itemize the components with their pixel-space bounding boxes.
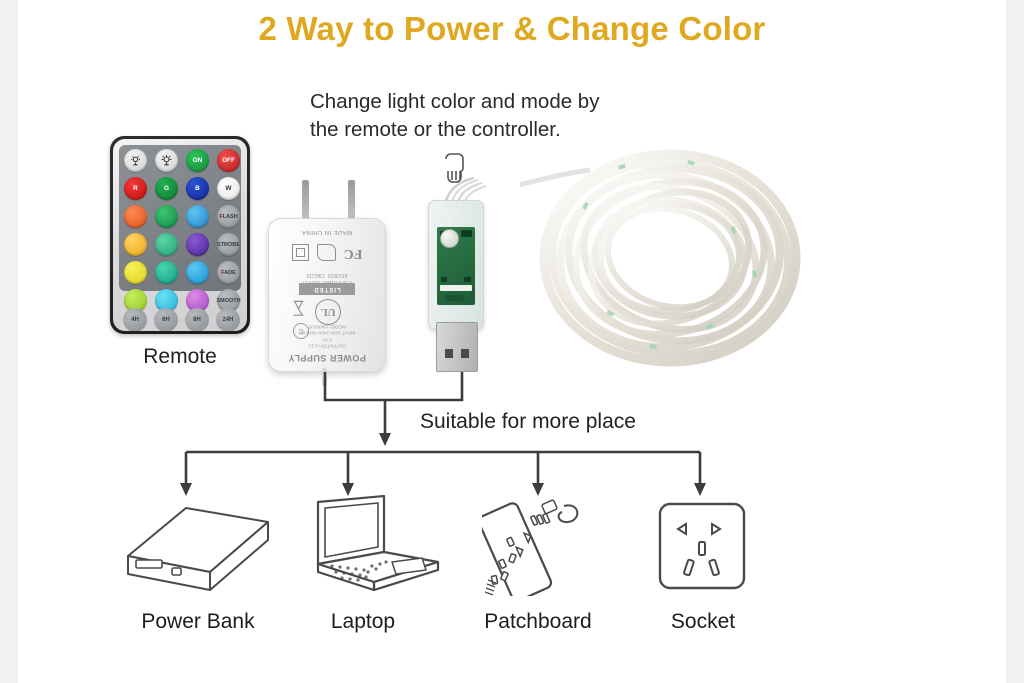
- adapter-bottom-cable: [322, 368, 327, 386]
- laptop-icon: [298, 492, 448, 596]
- remote-mode-strobe[interactable]: STROBE: [217, 233, 240, 256]
- led-string-light-coil: [520, 130, 820, 390]
- remote-color-swatch[interactable]: [155, 233, 178, 256]
- remote-color-swatch[interactable]: [186, 233, 209, 256]
- remote-color-swatch[interactable]: [155, 261, 178, 284]
- double-insulation-mark: [292, 245, 309, 262]
- patchboard-label: Patchboard: [458, 610, 618, 634]
- adapter-origin-text: MADE IN CHINA: [269, 229, 385, 235]
- remote-control[interactable]: ON OFF R G B W FLASH STROBE FADE SMOOTH: [110, 136, 250, 334]
- left-frame-band: [0, 0, 18, 683]
- remote-timer-4h[interactable]: 4H: [123, 308, 147, 331]
- branch-label: Suitable for more place: [420, 410, 680, 434]
- power-supply-adapter: MADE IN CHINA FC I.T.E POWER SUPPLYE5135…: [268, 218, 386, 372]
- power-bank-label: Power Bank: [108, 610, 288, 634]
- remote-color-swatch[interactable]: [124, 233, 147, 256]
- socket-icon: [654, 498, 750, 594]
- remote-color-b[interactable]: B: [186, 177, 209, 200]
- remote-color-r[interactable]: R: [124, 177, 147, 200]
- remote-on-button[interactable]: ON: [186, 149, 209, 172]
- remote-mode-fade[interactable]: FADE: [217, 261, 240, 284]
- subtitle-line-1: Change light color and mode by: [310, 88, 650, 116]
- remote-color-swatch[interactable]: [124, 261, 147, 284]
- remote-color-swatch[interactable]: [124, 205, 147, 228]
- remote-color-swatch[interactable]: [155, 205, 178, 228]
- socket-label: Socket: [638, 610, 768, 634]
- infographic-page: 2 Way to Power & Change Color Change lig…: [0, 0, 1024, 683]
- remote-brightness-up-icon[interactable]: [155, 149, 178, 172]
- power-bank-icon: [118, 498, 278, 596]
- remote-color-swatch[interactable]: [186, 205, 209, 228]
- adapter-spec-text: OUTPUT:5V=1.1A0.3AINPUT:100V-240V~50/60H…: [269, 323, 385, 349]
- usb-led-controller[interactable]: [428, 200, 484, 330]
- weee-bin-icon: [291, 299, 306, 317]
- remote-face: ON OFF R G B W FLASH STROBE FADE SMOOTH: [113, 139, 247, 331]
- remote-mode-flash[interactable]: FLASH: [217, 205, 240, 228]
- laptop-label: Laptop: [288, 610, 438, 634]
- remote-color-swatch[interactable]: [186, 261, 209, 284]
- remote-label: Remote: [110, 345, 250, 369]
- adapter-cert-marks: FC: [269, 241, 385, 265]
- controller-push-button[interactable]: [440, 229, 459, 248]
- remote-color-g[interactable]: G: [155, 177, 178, 200]
- ul-listed-badge: LISTED: [299, 283, 355, 295]
- patchboard-icon: [482, 480, 600, 596]
- usb-contact-right: [461, 349, 469, 358]
- adapter-brand-text: POWER SUPPLY: [269, 353, 385, 363]
- remote-color-w[interactable]: W: [217, 177, 240, 200]
- remote-off-button[interactable]: OFF: [217, 149, 240, 172]
- usb-contact-left: [445, 349, 453, 358]
- remote-timer-6h[interactable]: 6H: [154, 308, 178, 331]
- page-title: 2 Way to Power & Change Color: [0, 10, 1024, 48]
- remote-timer-8h[interactable]: 8H: [185, 308, 209, 331]
- remote-timer-24h[interactable]: 24H: [216, 308, 240, 331]
- ce-mark: [317, 245, 336, 262]
- fc-mark: FC: [344, 245, 363, 261]
- right-frame-band: [1006, 0, 1024, 683]
- ul-circle-mark: UL: [315, 299, 341, 325]
- usb-a-connector: [436, 322, 478, 372]
- remote-brightness-down-icon[interactable]: [124, 149, 147, 172]
